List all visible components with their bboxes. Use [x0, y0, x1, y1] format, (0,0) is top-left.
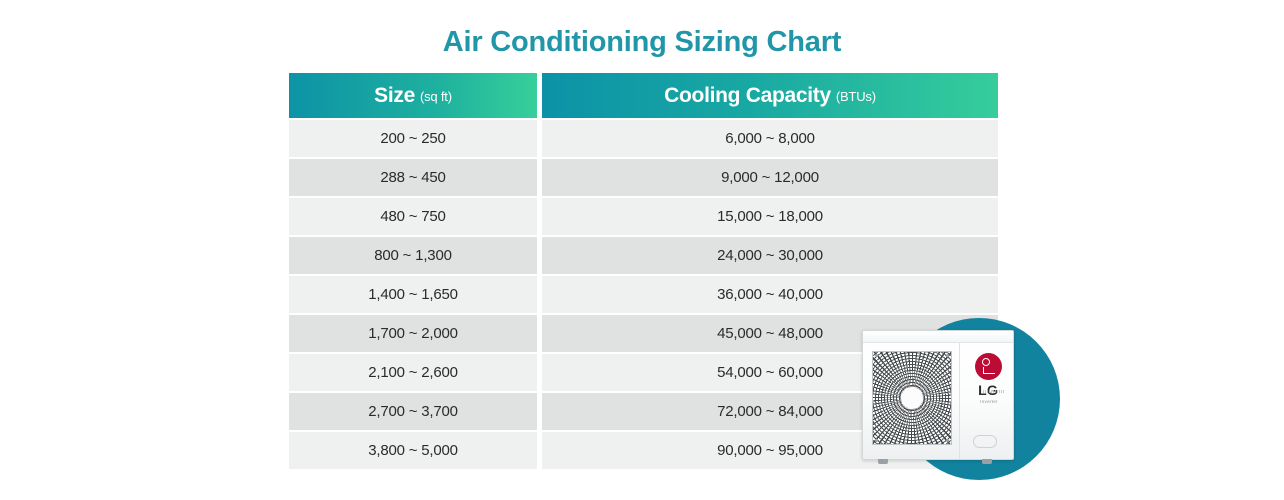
cell-size: 2,100 ~ 2,600 — [289, 354, 537, 391]
table-row: 480 ~ 750 15,000 ~ 18,000 — [289, 198, 998, 235]
page-title: Air Conditioning Sizing Chart — [0, 26, 1284, 59]
ac-outdoor-unit-image: LG Inverter — [862, 330, 1014, 468]
header-cell-cooling-capacity: Cooling Capacity (BTUs) — [542, 73, 998, 118]
grille-screw — [875, 439, 878, 442]
cell-capacity: 9,000 ~ 12,000 — [542, 159, 998, 196]
cell-size: 2,700 ~ 3,700 — [289, 393, 537, 430]
barcode-icon — [983, 390, 1005, 393]
cell-size: 1,700 ~ 2,000 — [289, 315, 537, 352]
cell-capacity: 24,000 ~ 30,000 — [542, 237, 998, 274]
fan-grille-icon — [872, 351, 952, 445]
cell-capacity: 36,000 ~ 40,000 — [542, 276, 998, 313]
ac-unit-foot — [982, 459, 992, 464]
cell-size: 800 ~ 1,300 — [289, 237, 537, 274]
grille-screw — [875, 354, 878, 357]
table-row: 1,400 ~ 1,650 36,000 ~ 40,000 — [289, 276, 998, 313]
ac-unit-vent-outline — [973, 435, 997, 448]
header-capacity-unit: (BTUs) — [836, 89, 876, 104]
cell-size: 288 ~ 450 — [289, 159, 537, 196]
table-header-row: Size (sq ft) Cooling Capacity (BTUs) — [289, 73, 998, 118]
inverter-caption: Inverter — [967, 399, 1011, 404]
cell-size: 3,800 ~ 5,000 — [289, 432, 537, 469]
ac-unit-panel-divider — [959, 343, 960, 460]
cell-size: 200 ~ 250 — [289, 120, 537, 157]
table-row: 200 ~ 250 6,000 ~ 8,000 — [289, 120, 998, 157]
grille-screw — [946, 354, 949, 357]
cell-size: 1,400 ~ 1,650 — [289, 276, 537, 313]
table-row: 288 ~ 450 9,000 ~ 12,000 — [289, 159, 998, 196]
table-row: 800 ~ 1,300 24,000 ~ 30,000 — [289, 237, 998, 274]
header-cell-size: Size (sq ft) — [289, 73, 537, 118]
header-size-label: Size — [374, 84, 415, 108]
cell-capacity: 6,000 ~ 8,000 — [542, 120, 998, 157]
ac-unit-body: LG Inverter — [862, 330, 1014, 460]
ac-unit-foot — [878, 459, 888, 464]
header-capacity-label: Cooling Capacity — [664, 84, 831, 108]
header-size-unit: (sq ft) — [420, 89, 452, 104]
cell-size: 480 ~ 750 — [289, 198, 537, 235]
fan-hub — [901, 387, 923, 409]
ac-unit-top-panel — [863, 331, 1013, 343]
lg-face-mark-icon — [975, 353, 1002, 380]
sizing-chart-page: Air Conditioning Sizing Chart Size (sq f… — [0, 0, 1284, 500]
grille-screw — [946, 439, 949, 442]
cell-capacity: 15,000 ~ 18,000 — [542, 198, 998, 235]
